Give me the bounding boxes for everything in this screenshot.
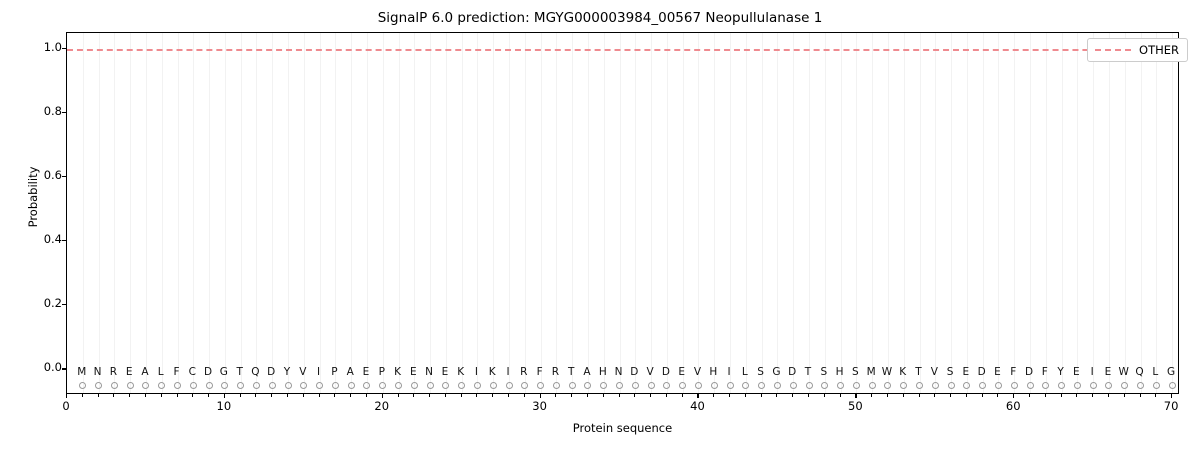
grid-line [967, 33, 968, 393]
residue-letter: H [709, 366, 717, 378]
residue-letter: V [694, 366, 701, 378]
x-tick-label: 50 [848, 400, 863, 413]
residue-letter: W [882, 366, 892, 378]
grid-line [304, 33, 305, 393]
residue-letter: I [506, 366, 509, 378]
residue-marker [711, 382, 718, 389]
grid-line [1172, 33, 1173, 393]
residue-marker [521, 382, 528, 389]
x-minor-tick-mark [398, 394, 399, 397]
residue-marker [837, 382, 844, 389]
residue-letter: N [94, 366, 102, 378]
grid-line [1156, 33, 1157, 393]
x-minor-tick-mark [555, 394, 556, 397]
residue-letter: A [347, 366, 354, 378]
x-minor-tick-mark [524, 394, 525, 397]
residue-marker [506, 382, 513, 389]
y-axis-label: Probability [26, 87, 40, 307]
y-tick-label: 1.0 [44, 42, 62, 54]
residue-letter: G [220, 366, 228, 378]
grid-line [1093, 33, 1094, 393]
grid-line [130, 33, 131, 393]
residue-marker [1042, 382, 1049, 389]
grid-line [809, 33, 810, 393]
residue-letter: A [583, 366, 590, 378]
residue-marker [569, 382, 576, 389]
x-minor-tick-mark [113, 394, 114, 397]
residue-marker [95, 382, 102, 389]
x-tick-mark [1013, 394, 1014, 398]
residue-marker [853, 382, 860, 389]
grid-line [256, 33, 257, 393]
residue-letter: K [394, 366, 401, 378]
grid-line [556, 33, 557, 393]
residue-marker [884, 382, 891, 389]
residue-marker [1027, 382, 1034, 389]
residue-marker [363, 382, 370, 389]
residue-marker [537, 382, 544, 389]
y-tick-mark [62, 112, 66, 113]
residue-letter: T [236, 366, 242, 378]
residue-letter: E [994, 366, 1001, 378]
residue-marker [663, 382, 670, 389]
grid-line [1109, 33, 1110, 393]
grid-line [414, 33, 415, 393]
x-minor-tick-mark [334, 394, 335, 397]
x-minor-tick-mark [508, 394, 509, 397]
residue-marker [900, 382, 907, 389]
residue-letter: D [630, 366, 638, 378]
x-tick-mark [697, 394, 698, 398]
residue-marker [679, 382, 686, 389]
grid-line [872, 33, 873, 393]
residue-letter: N [615, 366, 623, 378]
x-minor-tick-mark [713, 394, 714, 397]
residue-marker [379, 382, 386, 389]
y-tick-mark [62, 48, 66, 49]
residue-letter: E [678, 366, 685, 378]
residue-marker [427, 382, 434, 389]
residue-marker [774, 382, 781, 389]
x-minor-tick-mark [287, 394, 288, 397]
residue-marker [316, 382, 323, 389]
residue-letter: L [158, 366, 164, 378]
x-minor-tick-mark [587, 394, 588, 397]
grid-line [1077, 33, 1078, 393]
residue-marker [190, 382, 197, 389]
other-probability-line [67, 49, 1178, 51]
residue-letter: E [1105, 366, 1112, 378]
grid-line [462, 33, 463, 393]
x-minor-tick-mark [950, 394, 951, 397]
grid-line [272, 33, 273, 393]
grid-line [477, 33, 478, 393]
residue-marker [1153, 382, 1160, 389]
grid-line [856, 33, 857, 393]
grid-line [288, 33, 289, 393]
residue-marker [237, 382, 244, 389]
grid-line [935, 33, 936, 393]
residue-letter: M [867, 366, 876, 378]
x-minor-tick-mark [445, 394, 446, 397]
residue-marker [758, 382, 765, 389]
x-minor-tick-mark [776, 394, 777, 397]
grid-line [399, 33, 400, 393]
residue-marker [1011, 382, 1018, 389]
residue-letter: E [963, 366, 970, 378]
residue-marker [79, 382, 86, 389]
grid-line [99, 33, 100, 393]
residue-letter: L [1152, 366, 1158, 378]
grid-line [493, 33, 494, 393]
y-tick-label: 0.2 [44, 298, 62, 310]
residue-marker [616, 382, 623, 389]
grid-line [841, 33, 842, 393]
residue-letter: F [537, 366, 543, 378]
residue-marker [790, 382, 797, 389]
x-minor-tick-mark [319, 394, 320, 397]
residue-letter: Q [1135, 366, 1143, 378]
residue-marker [458, 382, 465, 389]
grid-line [114, 33, 115, 393]
x-minor-tick-mark [603, 394, 604, 397]
grid-line [951, 33, 952, 393]
x-minor-tick-mark [745, 394, 746, 397]
grid-line [509, 33, 510, 393]
x-minor-tick-mark [919, 394, 920, 397]
y-tick-label: 0.6 [44, 170, 62, 182]
x-minor-tick-mark [650, 394, 651, 397]
grid-line [1141, 33, 1142, 393]
grid-line [162, 33, 163, 393]
grid-line [714, 33, 715, 393]
x-minor-tick-mark [461, 394, 462, 397]
residue-letter: G [772, 366, 780, 378]
residue-marker [221, 382, 228, 389]
residue-marker [127, 382, 134, 389]
residue-letter: N [425, 366, 433, 378]
residue-marker [695, 382, 702, 389]
x-tick-mark [224, 394, 225, 398]
residue-marker [995, 382, 1002, 389]
x-minor-tick-mark [887, 394, 888, 397]
x-minor-tick-mark [366, 394, 367, 397]
residue-marker [806, 382, 813, 389]
residue-marker [584, 382, 591, 389]
residue-letter: S [852, 366, 859, 378]
signalp-prediction-figure: SignalP 6.0 prediction: MGYG000003984_00… [0, 0, 1200, 450]
residue-letter: T [568, 366, 574, 378]
residue-letter: F [1042, 366, 1048, 378]
residue-letter: S [757, 366, 764, 378]
residue-letter: I [475, 366, 478, 378]
residue-letter: D [204, 366, 212, 378]
x-tick-label: 40 [690, 400, 705, 413]
y-tick-mark [62, 240, 66, 241]
x-minor-tick-mark [1155, 394, 1156, 397]
grid-line [651, 33, 652, 393]
x-minor-tick-mark [350, 394, 351, 397]
residue-marker [1121, 382, 1128, 389]
x-minor-tick-mark [571, 394, 572, 397]
residue-letter: K [899, 366, 906, 378]
x-minor-tick-mark [240, 394, 241, 397]
x-minor-tick-mark [1140, 394, 1141, 397]
residue-marker [1058, 382, 1065, 389]
residue-letter: R [552, 366, 559, 378]
residue-letter: D [788, 366, 796, 378]
x-minor-tick-mark [1029, 394, 1030, 397]
residue-marker [932, 382, 939, 389]
residue-letter: H [599, 366, 607, 378]
residue-letter: R [520, 366, 527, 378]
grid-line [983, 33, 984, 393]
residue-letter: A [141, 366, 148, 378]
grid-line [588, 33, 589, 393]
x-minor-tick-mark [129, 394, 130, 397]
grid-line [920, 33, 921, 393]
residue-marker [269, 382, 276, 389]
residue-letter: L [742, 366, 748, 378]
residue-marker [979, 382, 986, 389]
grid-line [683, 33, 684, 393]
grid-line [446, 33, 447, 393]
residue-marker [632, 382, 639, 389]
residue-letter: M [77, 366, 86, 378]
x-tick-mark [66, 394, 67, 398]
grid-line [1030, 33, 1031, 393]
grid-line [209, 33, 210, 393]
residue-letter: V [647, 366, 654, 378]
grid-line [604, 33, 605, 393]
x-tick-label: 20 [374, 400, 389, 413]
residue-letter: K [489, 366, 496, 378]
x-tick-mark [1171, 394, 1172, 398]
residue-marker [869, 382, 876, 389]
x-minor-tick-mark [1045, 394, 1046, 397]
x-tick-mark [382, 394, 383, 398]
residue-letter: D [662, 366, 670, 378]
x-minor-tick-mark [255, 394, 256, 397]
residue-letter: I [728, 366, 731, 378]
y-tick-mark [62, 176, 66, 177]
residue-letter: E [363, 366, 370, 378]
x-minor-tick-mark [145, 394, 146, 397]
y-tick-mark [62, 304, 66, 305]
x-minor-tick-mark [1124, 394, 1125, 397]
x-minor-tick-mark [1076, 394, 1077, 397]
residue-letter: S [947, 366, 954, 378]
x-minor-tick-mark [271, 394, 272, 397]
x-tick-label: 10 [217, 400, 232, 413]
grid-line [193, 33, 194, 393]
residue-marker [916, 382, 923, 389]
residue-letter: G [1167, 366, 1175, 378]
grid-line [667, 33, 668, 393]
x-tick-label: 0 [62, 400, 69, 413]
x-minor-tick-mark [82, 394, 83, 397]
residue-marker [206, 382, 213, 389]
residue-letter: W [1119, 366, 1129, 378]
grid-line [320, 33, 321, 393]
residue-letter: C [189, 366, 196, 378]
residue-letter: Q [251, 366, 259, 378]
x-minor-tick-mark [824, 394, 825, 397]
residue-marker [648, 382, 655, 389]
grid-line [777, 33, 778, 393]
x-minor-tick-mark [429, 394, 430, 397]
residue-marker [348, 382, 355, 389]
residue-marker [332, 382, 339, 389]
x-minor-tick-mark [666, 394, 667, 397]
grid-line [904, 33, 905, 393]
grid-line [825, 33, 826, 393]
residue-marker [742, 382, 749, 389]
residue-letter: D [978, 366, 986, 378]
residue-letter: K [457, 366, 464, 378]
grid-line [83, 33, 84, 393]
residue-marker [490, 382, 497, 389]
residue-marker [821, 382, 828, 389]
grid-line [572, 33, 573, 393]
residue-marker [1137, 382, 1144, 389]
grid-line [383, 33, 384, 393]
residue-letter: F [173, 366, 179, 378]
residue-marker [963, 382, 970, 389]
residue-marker [553, 382, 560, 389]
residue-letter: Y [284, 366, 290, 378]
residue-letter: S [820, 366, 827, 378]
x-tick-mark [855, 394, 856, 398]
plot-area [66, 32, 1179, 394]
residue-letter: V [931, 366, 938, 378]
residue-marker [442, 382, 449, 389]
x-minor-tick-mark [492, 394, 493, 397]
grid-line [635, 33, 636, 393]
grid-line [746, 33, 747, 393]
grid-line [146, 33, 147, 393]
grid-line [1125, 33, 1126, 393]
x-tick-label: 60 [1006, 400, 1021, 413]
x-minor-tick-mark [1061, 394, 1062, 397]
residue-letter: E [410, 366, 417, 378]
x-tick-label: 70 [1164, 400, 1179, 413]
x-minor-tick-mark [161, 394, 162, 397]
residue-marker [727, 382, 734, 389]
residue-marker [111, 382, 118, 389]
grid-line [1014, 33, 1015, 393]
grid-line [225, 33, 226, 393]
residue-letter: H [836, 366, 844, 378]
x-minor-tick-mark [682, 394, 683, 397]
grid-line [241, 33, 242, 393]
residue-letter: V [299, 366, 306, 378]
residue-letter: E [126, 366, 133, 378]
grid-line [793, 33, 794, 393]
residue-marker [395, 382, 402, 389]
residue-letter: E [1073, 366, 1080, 378]
residue-marker [1090, 382, 1097, 389]
x-tick-label: 30 [532, 400, 547, 413]
x-minor-tick-mark [982, 394, 983, 397]
residue-marker [411, 382, 418, 389]
residue-marker [600, 382, 607, 389]
legend-swatch-other [1095, 49, 1131, 51]
grid-line [620, 33, 621, 393]
legend[interactable]: OTHER [1087, 38, 1188, 62]
grid-line [762, 33, 763, 393]
grid-line [888, 33, 889, 393]
legend-label-other: OTHER [1139, 44, 1179, 56]
x-minor-tick-mark [871, 394, 872, 397]
x-minor-tick-mark [177, 394, 178, 397]
residue-marker [158, 382, 165, 389]
page-title: SignalP 6.0 prediction: MGYG000003984_00… [0, 10, 1200, 26]
residue-letter: I [317, 366, 320, 378]
x-minor-tick-mark [840, 394, 841, 397]
grid-line [335, 33, 336, 393]
residue-letter: E [442, 366, 449, 378]
x-minor-tick-mark [98, 394, 99, 397]
residue-marker [253, 382, 260, 389]
residue-marker [1074, 382, 1081, 389]
x-minor-tick-mark [934, 394, 935, 397]
y-tick-label: 0.0 [44, 362, 62, 374]
grid-line [998, 33, 999, 393]
x-minor-tick-mark [619, 394, 620, 397]
residue-letter: R [110, 366, 117, 378]
grid-line [351, 33, 352, 393]
residue-letter: Y [1057, 366, 1063, 378]
residue-letter: P [331, 366, 337, 378]
x-tick-mark [540, 394, 541, 398]
residue-marker [474, 382, 481, 389]
x-minor-tick-mark [1108, 394, 1109, 397]
x-minor-tick-mark [792, 394, 793, 397]
residue-marker [300, 382, 307, 389]
x-minor-tick-mark [413, 394, 414, 397]
residue-letter: P [379, 366, 385, 378]
x-minor-tick-mark [303, 394, 304, 397]
y-tick-label: 0.8 [44, 106, 62, 118]
grid-line [178, 33, 179, 393]
residue-letter: T [805, 366, 811, 378]
residue-marker [1105, 382, 1112, 389]
residue-marker [948, 382, 955, 389]
grid-line [525, 33, 526, 393]
x-minor-tick-mark [808, 394, 809, 397]
grid-line [1062, 33, 1063, 393]
grid-line [367, 33, 368, 393]
x-minor-tick-mark [729, 394, 730, 397]
residue-letter: I [1091, 366, 1094, 378]
x-minor-tick-mark [966, 394, 967, 397]
grid-line [541, 33, 542, 393]
x-minor-tick-mark [903, 394, 904, 397]
x-minor-tick-mark [208, 394, 209, 397]
x-minor-tick-mark [761, 394, 762, 397]
grid-line [730, 33, 731, 393]
x-minor-tick-mark [634, 394, 635, 397]
x-minor-tick-mark [997, 394, 998, 397]
x-minor-tick-mark [476, 394, 477, 397]
residue-marker [1169, 382, 1176, 389]
residue-letter: F [1010, 366, 1016, 378]
x-minor-tick-mark [1092, 394, 1093, 397]
residue-marker [142, 382, 149, 389]
residue-marker [174, 382, 181, 389]
residue-letter: D [267, 366, 275, 378]
